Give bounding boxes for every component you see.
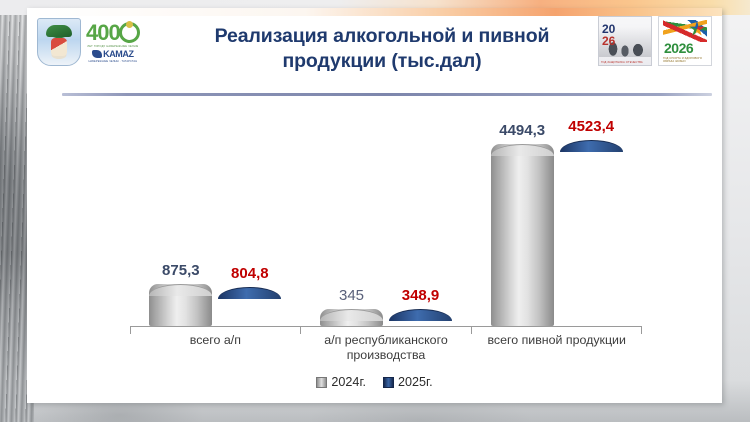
bar-2024-1[interactable]: 345 — [320, 309, 383, 326]
slide-top-accent — [27, 8, 722, 16]
bar-group-1: 345 348,9 — [301, 100, 472, 326]
bar-label-2024-1: 345 — [339, 287, 364, 304]
kamaz-logo: KAMAZ — [92, 49, 134, 59]
bar-2025-2[interactable]: 4523,4 — [560, 140, 623, 326]
anniversary-ring-icon — [119, 22, 140, 43]
coat-of-arms-emblem-icon — [37, 18, 81, 66]
screenshot-canvas: 400 ЛЕТ ГОРОДУ НАБЕРЕЖНЫЕ ЧЕЛНЫ KAMAZ НА… — [0, 0, 750, 422]
category-label-1: а/п республиканского производства — [301, 333, 472, 363]
kamaz-caption: НАБЕРЕЖНЫЕ ЧЕЛНЫ · ТАТАРСТАН — [88, 60, 137, 63]
anniversary-400-logo: 400 ЛЕТ ГОРОДУ НАБЕРЕЖНЫЕ ЧЕЛНЫ KAMAZ НА… — [86, 22, 140, 63]
bar-groups: 875,3 804,8 345 — [130, 100, 642, 326]
bar-cylinder — [389, 309, 452, 326]
slide-title-line-1: Реализация алкогольной и пивной — [147, 24, 617, 49]
bar-chart: 875,3 804,8 345 — [27, 100, 722, 403]
legend-swatch-icon-2024 — [316, 377, 327, 388]
bar-cylinder — [491, 144, 554, 326]
title-divider — [62, 93, 712, 96]
bar-cylinder — [218, 287, 281, 326]
bar-cylinder — [560, 140, 623, 326]
category-label-2: всего пивной продукции — [471, 333, 642, 363]
bar-label-2025-1: 348,9 — [402, 287, 440, 304]
bar-cylinder — [320, 309, 383, 326]
bar-2024-2[interactable]: 4494,3 — [491, 144, 554, 326]
legend-swatch-icon-2025 — [383, 377, 394, 388]
kamaz-wordmark: KAMAZ — [103, 49, 134, 59]
bar-cylinder — [149, 284, 212, 326]
bar-2024-0[interactable]: 875,3 — [149, 284, 212, 326]
bar-group-0: 875,3 804,8 — [130, 100, 301, 326]
anniversary-400-digit: 400 — [86, 22, 120, 44]
slide-title-line-2: продукции (тыс.дал) — [147, 49, 617, 74]
legend-label-2024: 2024г. — [331, 375, 366, 389]
anniversary-400-mark: 400 — [86, 22, 140, 44]
bar-label-2024-0: 875,3 — [162, 262, 200, 279]
category-labels: всего а/п а/п республиканского производс… — [130, 333, 642, 363]
bar-group-2: 4494,3 4523,4 — [471, 100, 642, 326]
legend-item-2024[interactable]: 2024г. — [316, 375, 366, 389]
bar-label-2025-2: 4523,4 — [568, 118, 614, 135]
anniversary-400-caption: ЛЕТ ГОРОДУ НАБЕРЕЖНЫЕ ЧЕЛНЫ — [87, 45, 138, 48]
plot-area: 875,3 804,8 345 — [27, 100, 722, 328]
chart-legend: 2024г. 2025г. — [27, 375, 722, 389]
category-label-0: всего а/п — [130, 333, 301, 363]
bar-2025-1[interactable]: 348,9 — [389, 309, 452, 326]
year-of-sport-caption: ГОД СПОРТА И ЗДОРОВОГО ОБРАЗА ЖИЗНИ — [663, 57, 711, 63]
bar-label-2024-2: 4494,3 — [499, 122, 545, 139]
left-logo-group: 400 ЛЕТ ГОРОДУ НАБЕРЕЖНЫЕ ЧЕЛНЫ KAMAZ НА… — [37, 18, 140, 66]
presentation-slide: 400 ЛЕТ ГОРОДУ НАБЕРЕЖНЫЕ ЧЕЛНЫ KAMAZ НА… — [27, 8, 722, 403]
year-of-sport-year: 2026 — [664, 41, 693, 55]
legend-label-2025: 2025г. — [398, 375, 433, 389]
year-of-sport-logo: 2026 ГОД СПОРТА И ЗДОРОВОГО ОБРАЗА ЖИЗНИ — [658, 16, 712, 66]
kamaz-mark-icon — [92, 50, 102, 58]
bar-2025-0[interactable]: 804,8 — [218, 287, 281, 326]
bar-label-2025-0: 804,8 — [231, 265, 269, 282]
star-burst-icon — [663, 20, 707, 42]
legend-item-2025[interactable]: 2025г. — [383, 375, 433, 389]
slide-title: Реализация алкогольной и пивной продукци… — [147, 24, 617, 74]
